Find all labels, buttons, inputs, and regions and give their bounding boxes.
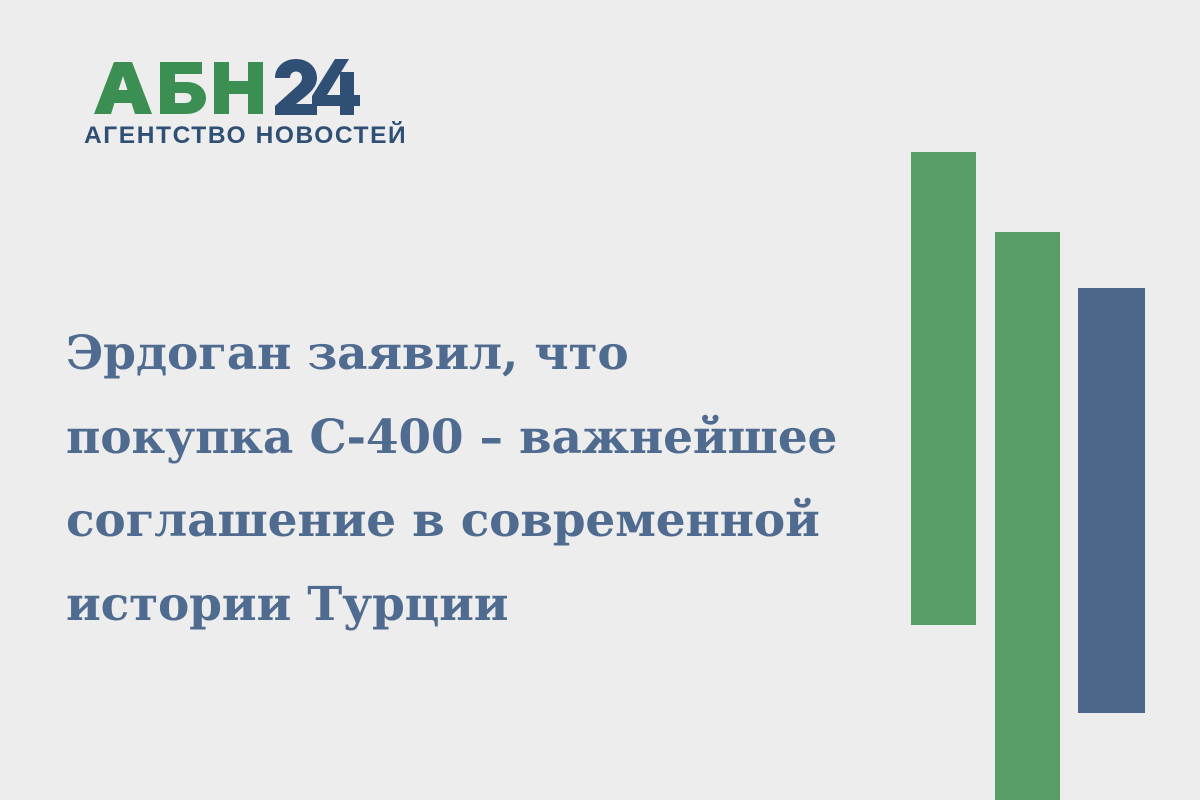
logo-wordmark-icon [84, 58, 362, 118]
brand-logo: АГЕНТСТВО НОВОСТЕЙ [84, 58, 374, 149]
decorative-bar-1 [911, 152, 976, 625]
decorative-bar-3 [1078, 288, 1145, 713]
decorative-bar-2 [995, 232, 1060, 800]
headline-text: Эрдоган заявил, что покупка С-400 – важн… [66, 312, 866, 647]
news-card: АГЕНТСТВО НОВОСТЕЙ Эрдоган заявил, что п… [0, 0, 1200, 800]
logo-tagline: АГЕНТСТВО НОВОСТЕЙ [84, 124, 374, 149]
